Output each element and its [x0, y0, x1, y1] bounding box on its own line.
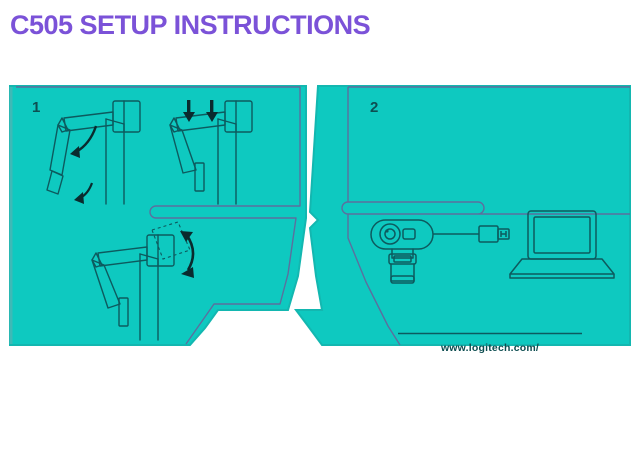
page-title: C505 SETUP INSTRUCTIONS [10, 12, 370, 39]
page-root: C505 SETUP INSTRUCTIONS 1 [0, 0, 640, 475]
panel-2-number: 2 [370, 99, 378, 116]
panel-2: 2 [296, 86, 630, 353]
support-url-line-1[interactable]: www.logitech.com/ [440, 342, 539, 353]
panel-1: 1 [10, 86, 306, 345]
instruction-illustration: 1 [0, 78, 640, 353]
panel-2-background [296, 86, 630, 345]
panel-1-number: 1 [32, 99, 40, 116]
